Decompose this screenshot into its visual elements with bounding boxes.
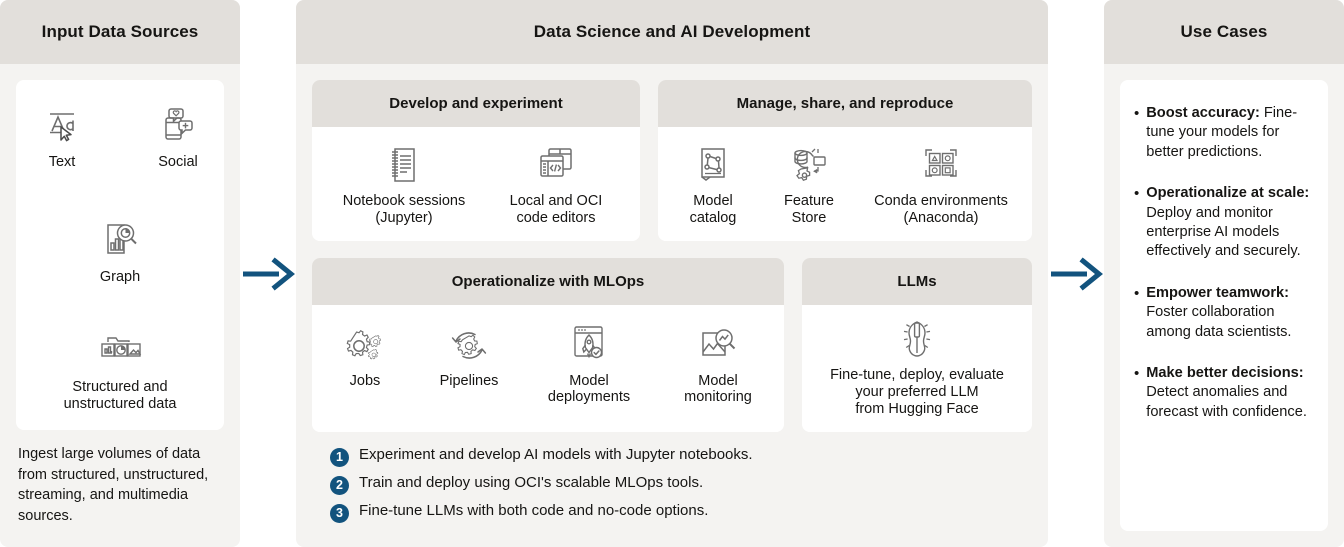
item-jobs[interactable]: Jobs (326, 321, 404, 418)
llms-text-line-1: Fine-tune, deploy, evaluate (830, 367, 1004, 383)
panel-items: Jobs (312, 305, 784, 432)
mixed-data-icon (95, 327, 145, 373)
input-source-label: Social (158, 154, 198, 171)
item-label: Jobs (350, 373, 381, 390)
conda-environments-icon (921, 141, 961, 185)
panel-row-top: Develop and experiment (312, 80, 1032, 241)
step-text: Fine-tune LLMs with both code and no-cod… (359, 502, 708, 521)
use-case-term: Boost accuracy: (1146, 105, 1260, 121)
feature-store-icon (788, 141, 830, 185)
input-sources-row-1: Text (26, 102, 214, 171)
arrow-input-to-development-wrap (240, 0, 296, 547)
item-code-editors[interactable]: Local and OCI code editors (496, 141, 616, 227)
use-case-description: Deploy and monitor enterprise AI models … (1146, 205, 1300, 260)
panel-items: Notebook sessions (Jupyter) (312, 127, 640, 241)
development-panels-body: Develop and experiment (296, 64, 1048, 547)
label-line-2: deployments (548, 389, 630, 405)
input-source-label: Graph (100, 269, 140, 286)
panel-develop-and-experiment: Develop and experiment (312, 80, 640, 241)
item-notebook-sessions[interactable]: Notebook sessions (Jupyter) (336, 141, 472, 227)
use-case-text: Boost accuracy: Fine-tune your models fo… (1146, 104, 1312, 162)
label-line-1: Model (569, 373, 609, 389)
llm-chip-icon (896, 317, 938, 359)
label-line-1: Model (698, 373, 738, 389)
item-label: Model monitoring (684, 373, 752, 407)
step-number-badge: 3 (330, 504, 349, 523)
panel-llms: LLMs Fine-tune, deploy, evaluate (802, 258, 1032, 432)
input-source-social[interactable]: Social (142, 102, 214, 171)
step-text: Train and deploy using OCI's scalable ML… (359, 474, 703, 493)
model-deployment-rocket-icon (568, 321, 610, 365)
label-line-2: code editors (516, 210, 595, 226)
llms-description: Fine-tune, deploy, evaluate your preferr… (830, 367, 1004, 418)
input-sources-description: Ingest large volumes of data from struct… (0, 430, 240, 536)
label-line-1: Feature (784, 193, 834, 209)
input-sources-card: Text (16, 80, 224, 430)
item-feature-store[interactable]: Feature Store (770, 141, 848, 227)
input-source-graph[interactable]: Graph (74, 217, 166, 286)
input-data-sources-column: Input Data Sources Text (0, 0, 240, 547)
step-item: 3 Fine-tune LLMs with both code and no-c… (330, 502, 1016, 523)
use-case-term: Make better decisions: (1146, 365, 1303, 381)
step-item: 1 Experiment and develop AI models with … (330, 446, 1016, 467)
item-label: Pipelines (440, 373, 499, 390)
item-label: Model deployments (548, 373, 630, 407)
label-line-2: unstructured data (64, 396, 177, 412)
use-case-text: Operationalize at scale: Deploy and moni… (1146, 184, 1312, 262)
panel-title: LLMs (802, 258, 1032, 305)
input-source-text[interactable]: Text (26, 102, 98, 171)
label-line-1: Structured and (72, 379, 167, 395)
panel-title: Manage, share, and reproduce (658, 80, 1032, 127)
data-science-ai-development-title: Data Science and AI Development (296, 0, 1048, 64)
use-case-description: Detect anomalies and forecast with confi… (1146, 384, 1307, 419)
use-case-item: • Empower teamwork: Foster collaboration… (1134, 284, 1312, 342)
panel-items: Fine-tune, deploy, evaluate your preferr… (802, 305, 1032, 432)
text-cursor-icon (42, 102, 82, 148)
step-item: 2 Train and deploy using OCI's scalable … (330, 474, 1016, 495)
numbered-steps-list: 1 Experiment and develop AI models with … (312, 432, 1032, 540)
panel-title: Develop and experiment (312, 80, 640, 127)
input-sources-row-3: Structured and unstructured data (26, 327, 214, 412)
item-label: Model catalog (690, 193, 737, 227)
step-number-badge: 1 (330, 448, 349, 467)
label-line-1: Conda environments (874, 193, 1008, 209)
use-case-item: • Operationalize at scale: Deploy and mo… (1134, 184, 1312, 262)
item-label: Conda environments (Anaconda) (874, 193, 1008, 227)
arrow-development-to-usecases (1049, 257, 1103, 291)
use-case-term: Operationalize at scale: (1146, 185, 1309, 201)
arrow-input-to-development (241, 257, 295, 291)
panel-title: Operationalize with MLOps (312, 258, 784, 305)
input-source-label: Structured and unstructured data (64, 379, 177, 412)
label-line-1: Model (693, 193, 733, 209)
model-monitoring-icon (697, 321, 739, 365)
use-case-term: Empower teamwork: (1146, 285, 1289, 301)
bullet-icon: • (1134, 104, 1139, 162)
notebook-icon (386, 141, 422, 185)
use-case-item: • Make better decisions: Detect anomalie… (1134, 364, 1312, 422)
label-line-2: (Anaconda) (904, 210, 979, 226)
data-science-ai-development-column: Data Science and AI Development Develop … (296, 0, 1048, 547)
input-sources-row-2: Graph (26, 217, 214, 286)
item-pipelines[interactable]: Pipelines (426, 321, 512, 418)
use-cases-title: Use Cases (1104, 0, 1344, 64)
item-label: Notebook sessions (Jupyter) (343, 193, 466, 227)
item-label: Local and OCI code editors (510, 193, 603, 227)
item-model-monitoring[interactable]: Model monitoring (666, 321, 770, 418)
model-catalog-icon (694, 141, 732, 185)
bullet-icon: • (1134, 184, 1139, 262)
item-label: Feature Store (784, 193, 834, 227)
use-case-text: Make better decisions: Detect anomalies … (1146, 364, 1312, 422)
input-data-sources-title: Input Data Sources (0, 0, 240, 64)
item-model-deployments[interactable]: Model deployments (534, 321, 644, 418)
use-case-item: • Boost accuracy: Fine-tune your models … (1134, 104, 1312, 162)
item-conda-environments[interactable]: Conda environments (Anaconda) (866, 141, 1016, 227)
label-line-2: monitoring (684, 389, 752, 405)
use-case-description: Foster collaboration among data scientis… (1146, 304, 1291, 339)
bullet-icon: • (1134, 284, 1139, 342)
panel-manage-share-reproduce: Manage, share, and reproduce (658, 80, 1032, 241)
panel-operationalize-with-mlops: Operationalize with MLOps (312, 258, 784, 432)
bullet-icon: • (1134, 364, 1139, 422)
pipeline-cycle-icon (448, 321, 490, 365)
label-line-2: catalog (690, 210, 737, 226)
item-model-catalog[interactable]: Model catalog (674, 141, 752, 227)
input-source-structured-unstructured[interactable]: Structured and unstructured data (35, 327, 205, 412)
llms-text-line-2: your preferred LLM (855, 384, 978, 400)
llms-text-line-3: from Hugging Face (855, 401, 978, 417)
use-cases-card: • Boost accuracy: Fine-tune your models … (1120, 80, 1328, 531)
arrow-development-to-usecases-wrap (1048, 0, 1104, 547)
label-line-1: Local and OCI (510, 193, 603, 209)
use-case-text: Empower teamwork: Foster collaboration a… (1146, 284, 1312, 342)
gears-icon (344, 321, 386, 365)
label-line-1: Notebook sessions (343, 193, 466, 209)
step-text: Experiment and develop AI models with Ju… (359, 446, 753, 465)
code-editor-icon (536, 141, 576, 185)
step-number-badge: 2 (330, 476, 349, 495)
panel-items: Model catalog (658, 127, 1032, 241)
use-cases-column: Use Cases • Boost accuracy: Fine-tune yo… (1104, 0, 1344, 547)
label-line-2: (Jupyter) (375, 210, 432, 226)
panel-row-bottom: Operationalize with MLOps (312, 258, 1032, 432)
social-chat-icon (158, 102, 198, 148)
label-line-2: Store (792, 210, 827, 226)
graph-magnifier-icon (99, 217, 141, 263)
input-source-label: Text (49, 154, 76, 171)
architecture-diagram: Input Data Sources Text (0, 0, 1344, 547)
